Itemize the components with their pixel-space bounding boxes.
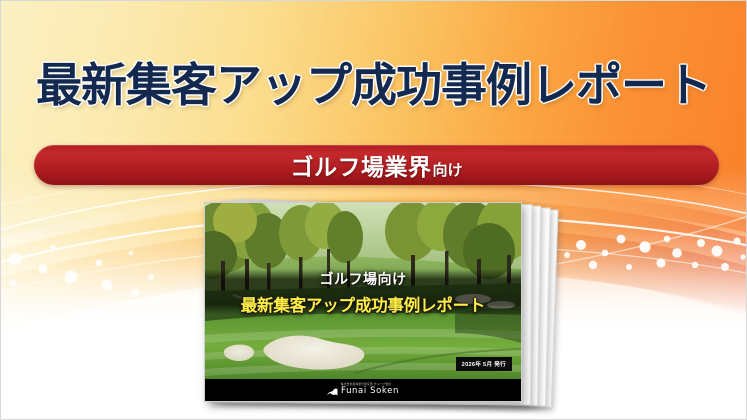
funai-logo-mark-icon (327, 385, 338, 396)
industry-banner-inner: ゴルフ場業界 向け (290, 148, 462, 182)
funai-logo-text: 株式会社船井総合研究所 グループ会社 Funai Soken (341, 384, 399, 395)
industry-banner: ゴルフ場業界 向け (34, 145, 719, 185)
cover-main-title: 最新集客アップ成功事例レポート (205, 292, 521, 316)
promo-banner-canvas: 最新集客アップ成功事例レポート ゴルフ場業界 向け (0, 0, 747, 420)
page-title: 最新集客アップ成功事例レポート (1, 49, 746, 115)
funai-soken-logo: 株式会社船井総合研究所 グループ会社 Funai Soken (327, 384, 399, 395)
industry-banner-suffix: 向け (432, 159, 462, 180)
cover-title-block: ゴルフ場向け 最新集客アップ成功事例レポート (205, 269, 521, 316)
report-cover[interactable]: ゴルフ場向け 最新集客アップ成功事例レポート 2026年 5月 発行 株式会社船… (204, 202, 522, 402)
cover-footer: 株式会社船井総合研究所 グループ会社 Funai Soken (205, 379, 521, 401)
publication-date-badge: 2026年 5月 発行 (456, 357, 512, 371)
cover-subtitle: ゴルフ場向け (205, 269, 521, 289)
report-document-stack[interactable]: ゴルフ場向け 最新集客アップ成功事例レポート 2026年 5月 発行 株式会社船… (204, 197, 564, 409)
industry-banner-label: ゴルフ場業界 (290, 148, 431, 182)
funai-logo-name: Funai Soken (341, 387, 399, 396)
